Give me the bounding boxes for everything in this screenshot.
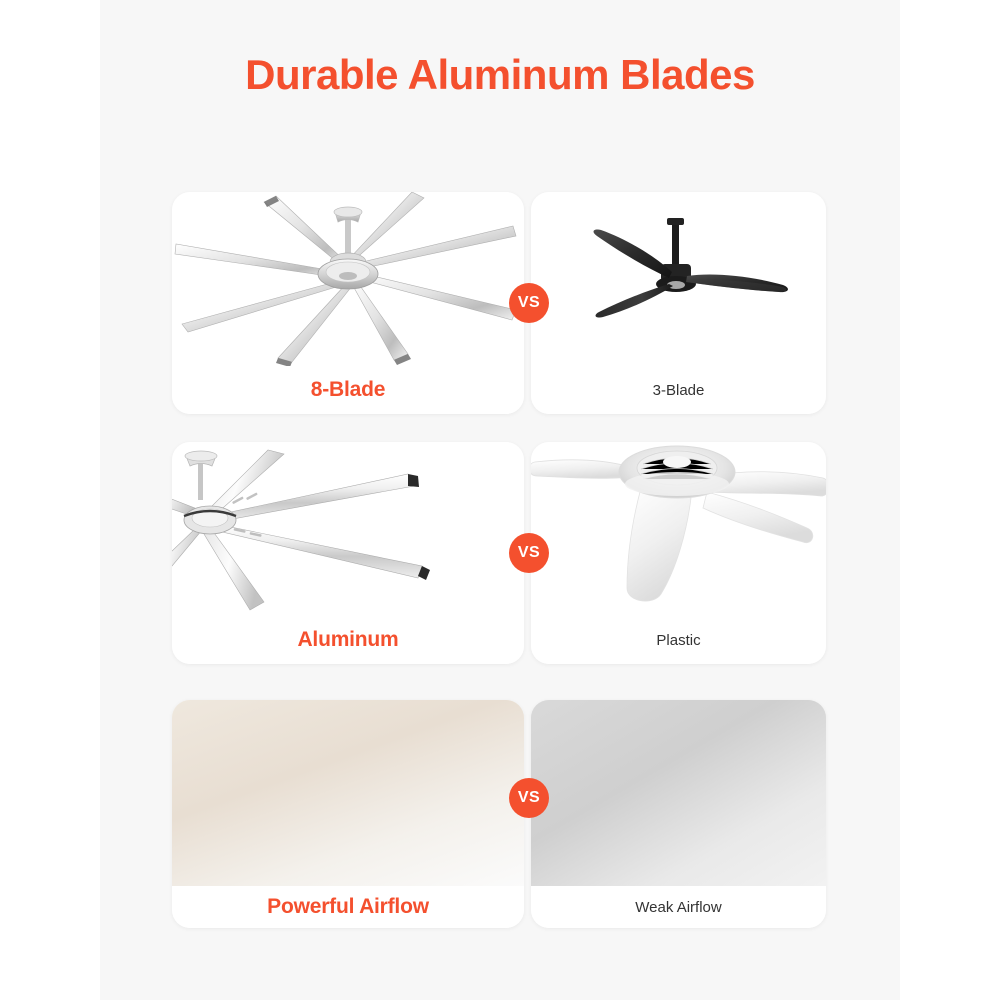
- powerful-airflow-image: [172, 700, 524, 886]
- plastic-blade-image: [531, 442, 826, 616]
- fan-3-blade-image: [531, 192, 826, 366]
- comparison-row-airflow: Powerful Airflow VS: [172, 700, 826, 928]
- comparison-card-powerful-airflow[interactable]: Powerful Airflow: [172, 700, 524, 928]
- aluminum-blade-image: [172, 442, 524, 616]
- comparison-card-8-blade[interactable]: 8-Blade: [172, 192, 524, 414]
- comparison-label-left: 8-Blade: [172, 366, 524, 414]
- comparison-card-weak-airflow[interactable]: Weak Airflow: [531, 700, 826, 928]
- comparison-label-right: Weak Airflow: [531, 886, 826, 928]
- vs-badge: VS: [509, 778, 549, 818]
- vs-badge: VS: [509, 533, 549, 573]
- comparison-infographic: Durable Aluminum Blades: [0, 0, 1000, 1000]
- comparison-row-blade-count: 8-Blade VS: [172, 192, 826, 414]
- weak-airflow-image: [531, 700, 826, 886]
- comparison-label-right: 3-Blade: [531, 366, 826, 414]
- page-title: Durable Aluminum Blades: [100, 50, 900, 100]
- fan-8-blade-image: [172, 192, 524, 366]
- comparison-card-3-blade[interactable]: 3-Blade: [531, 192, 826, 414]
- comparison-label-left: Aluminum: [172, 616, 524, 664]
- comparison-card-plastic[interactable]: Plastic: [531, 442, 826, 664]
- comparison-row-material: Aluminum VS: [172, 442, 826, 664]
- comparison-label-right: Plastic: [531, 616, 826, 664]
- vs-badge: VS: [509, 283, 549, 323]
- comparison-card-aluminum[interactable]: Aluminum: [172, 442, 524, 664]
- comparison-label-left: Powerful Airflow: [172, 886, 524, 928]
